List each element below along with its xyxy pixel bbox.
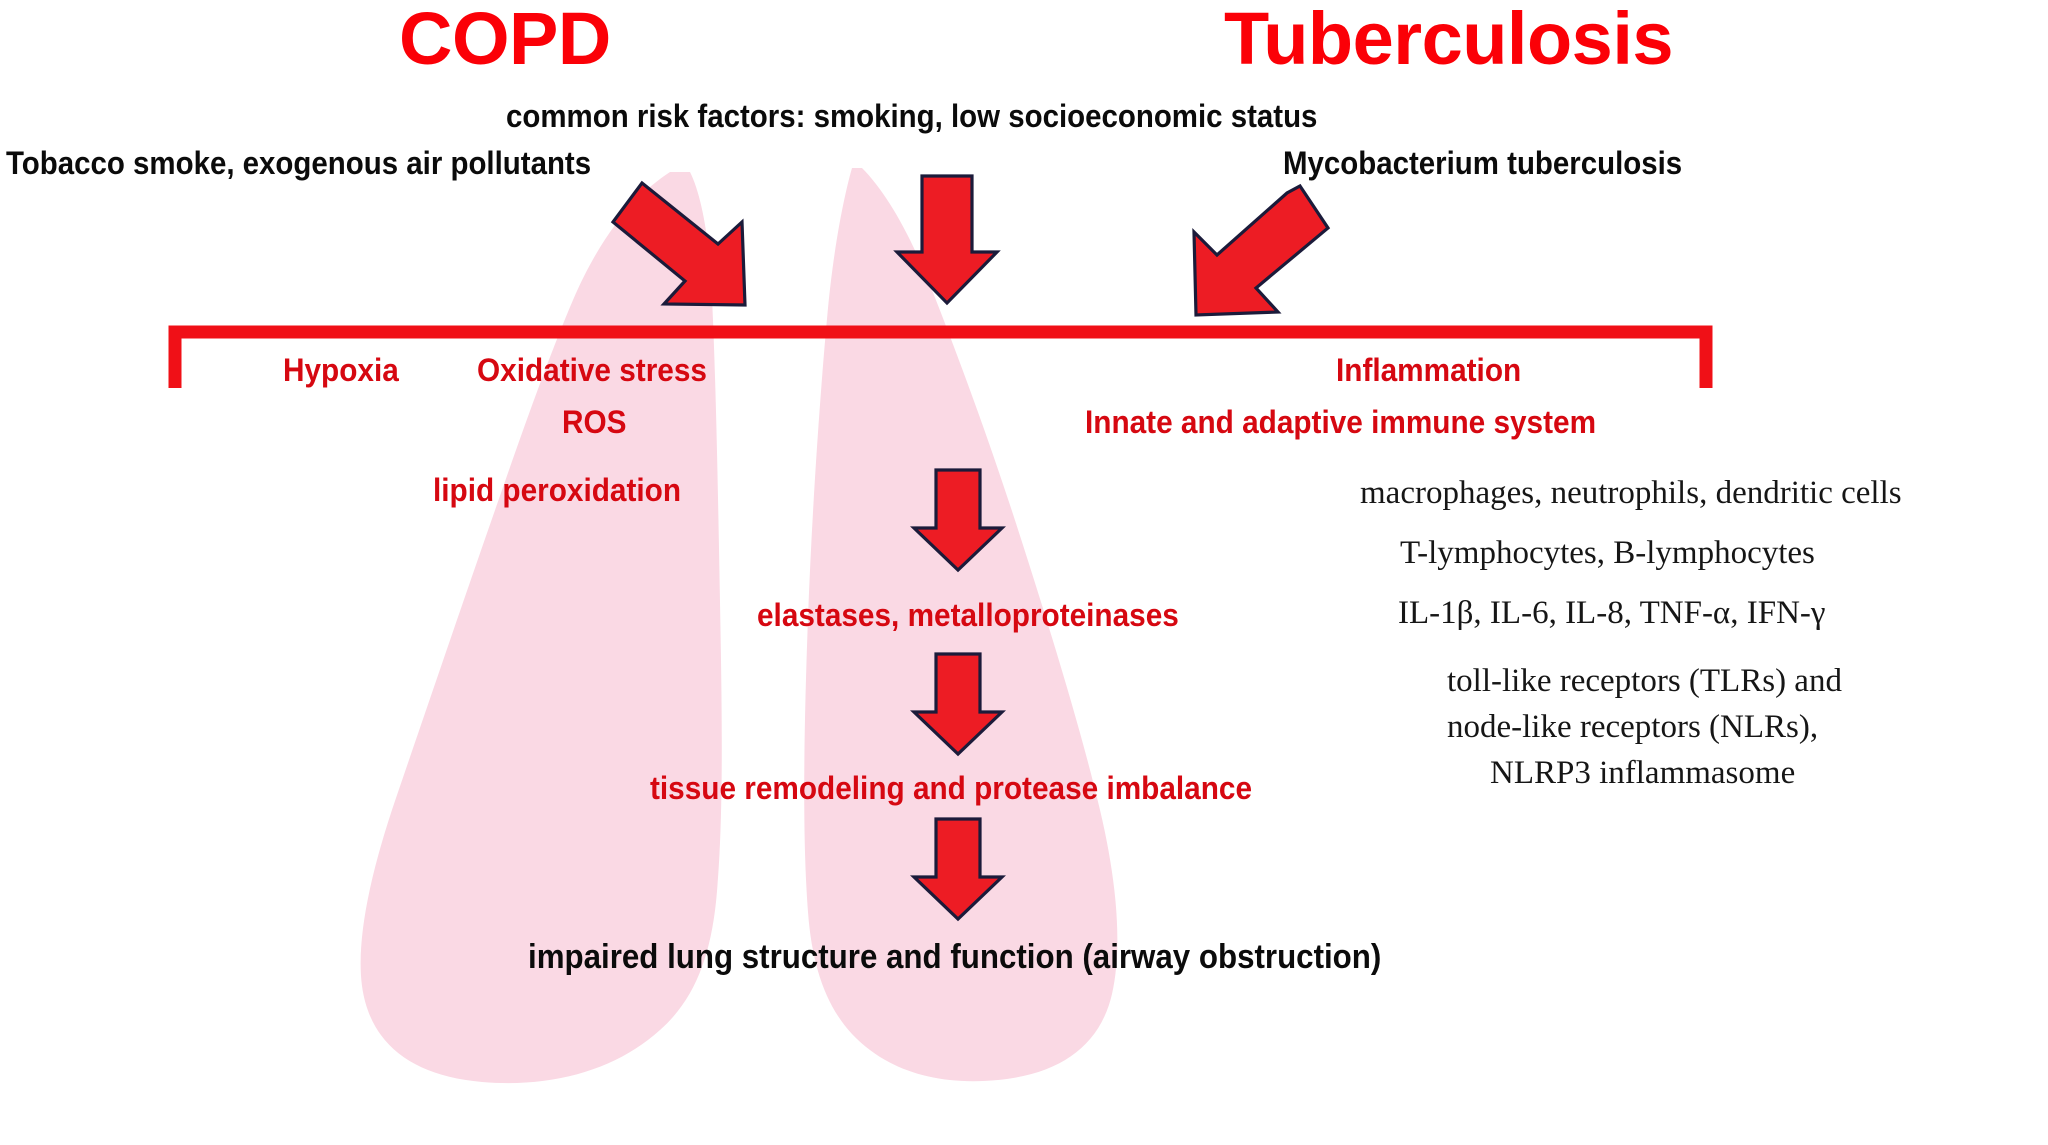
arrow-down-right-icon: [605, 180, 755, 315]
receptors-line-2: node-like receptors (NLRs),: [1447, 706, 1818, 749]
arrow-down-icon-cascade-2: [908, 650, 1008, 758]
label-elastases: elastases, metalloproteinases: [757, 597, 1179, 633]
arrow-down-icon-trigger: [888, 172, 1006, 308]
immune-cells-line-1: macrophages, neutrophils, dendritic cell…: [1360, 472, 1902, 515]
label-tissue-remodeling: tissue remodeling and protease imbalance: [650, 770, 1252, 806]
label-immune-system: Innate and adaptive immune system: [1085, 404, 1596, 440]
label-impaired-lung-function: impaired lung structure and function (ai…: [528, 938, 1381, 976]
label-lipid-peroxidation: lipid peroxidation: [433, 472, 681, 508]
receptors-line-1: toll-like receptors (TLRs) and: [1447, 660, 1842, 703]
diagram-canvas: COPD Tuberculosis common risk factors: s…: [0, 0, 2048, 1145]
arrow-down-icon-cascade-1: [908, 466, 1008, 574]
arrow-down-icon-cascade-3: [908, 815, 1008, 923]
receptors-line-3: NLRP3 inflammasome: [1490, 752, 1795, 795]
cytokines-line: IL-1β, IL-6, IL-8, TNF-α, IFN-γ: [1398, 592, 1825, 635]
title-tuberculosis: Tuberculosis: [1224, 2, 1673, 76]
label-tobacco-smoke: Tobacco smoke, exogenous air pollutants: [6, 146, 591, 182]
arrow-down-left-icon: [1182, 182, 1337, 322]
label-hypoxia: Hypoxia: [283, 352, 399, 388]
label-oxidative-stress: Oxidative stress: [477, 352, 707, 388]
label-ros: ROS: [562, 404, 626, 440]
title-copd: COPD: [399, 2, 611, 76]
immune-cells-line-2: T-lymphocytes, B-lymphocytes: [1400, 532, 1815, 575]
label-common-risk-factors: common risk factors: smoking, low socioe…: [506, 99, 1317, 135]
label-mycobacterium: Mycobacterium tuberculosis: [1283, 146, 1682, 182]
label-inflammation: Inflammation: [1336, 352, 1521, 388]
